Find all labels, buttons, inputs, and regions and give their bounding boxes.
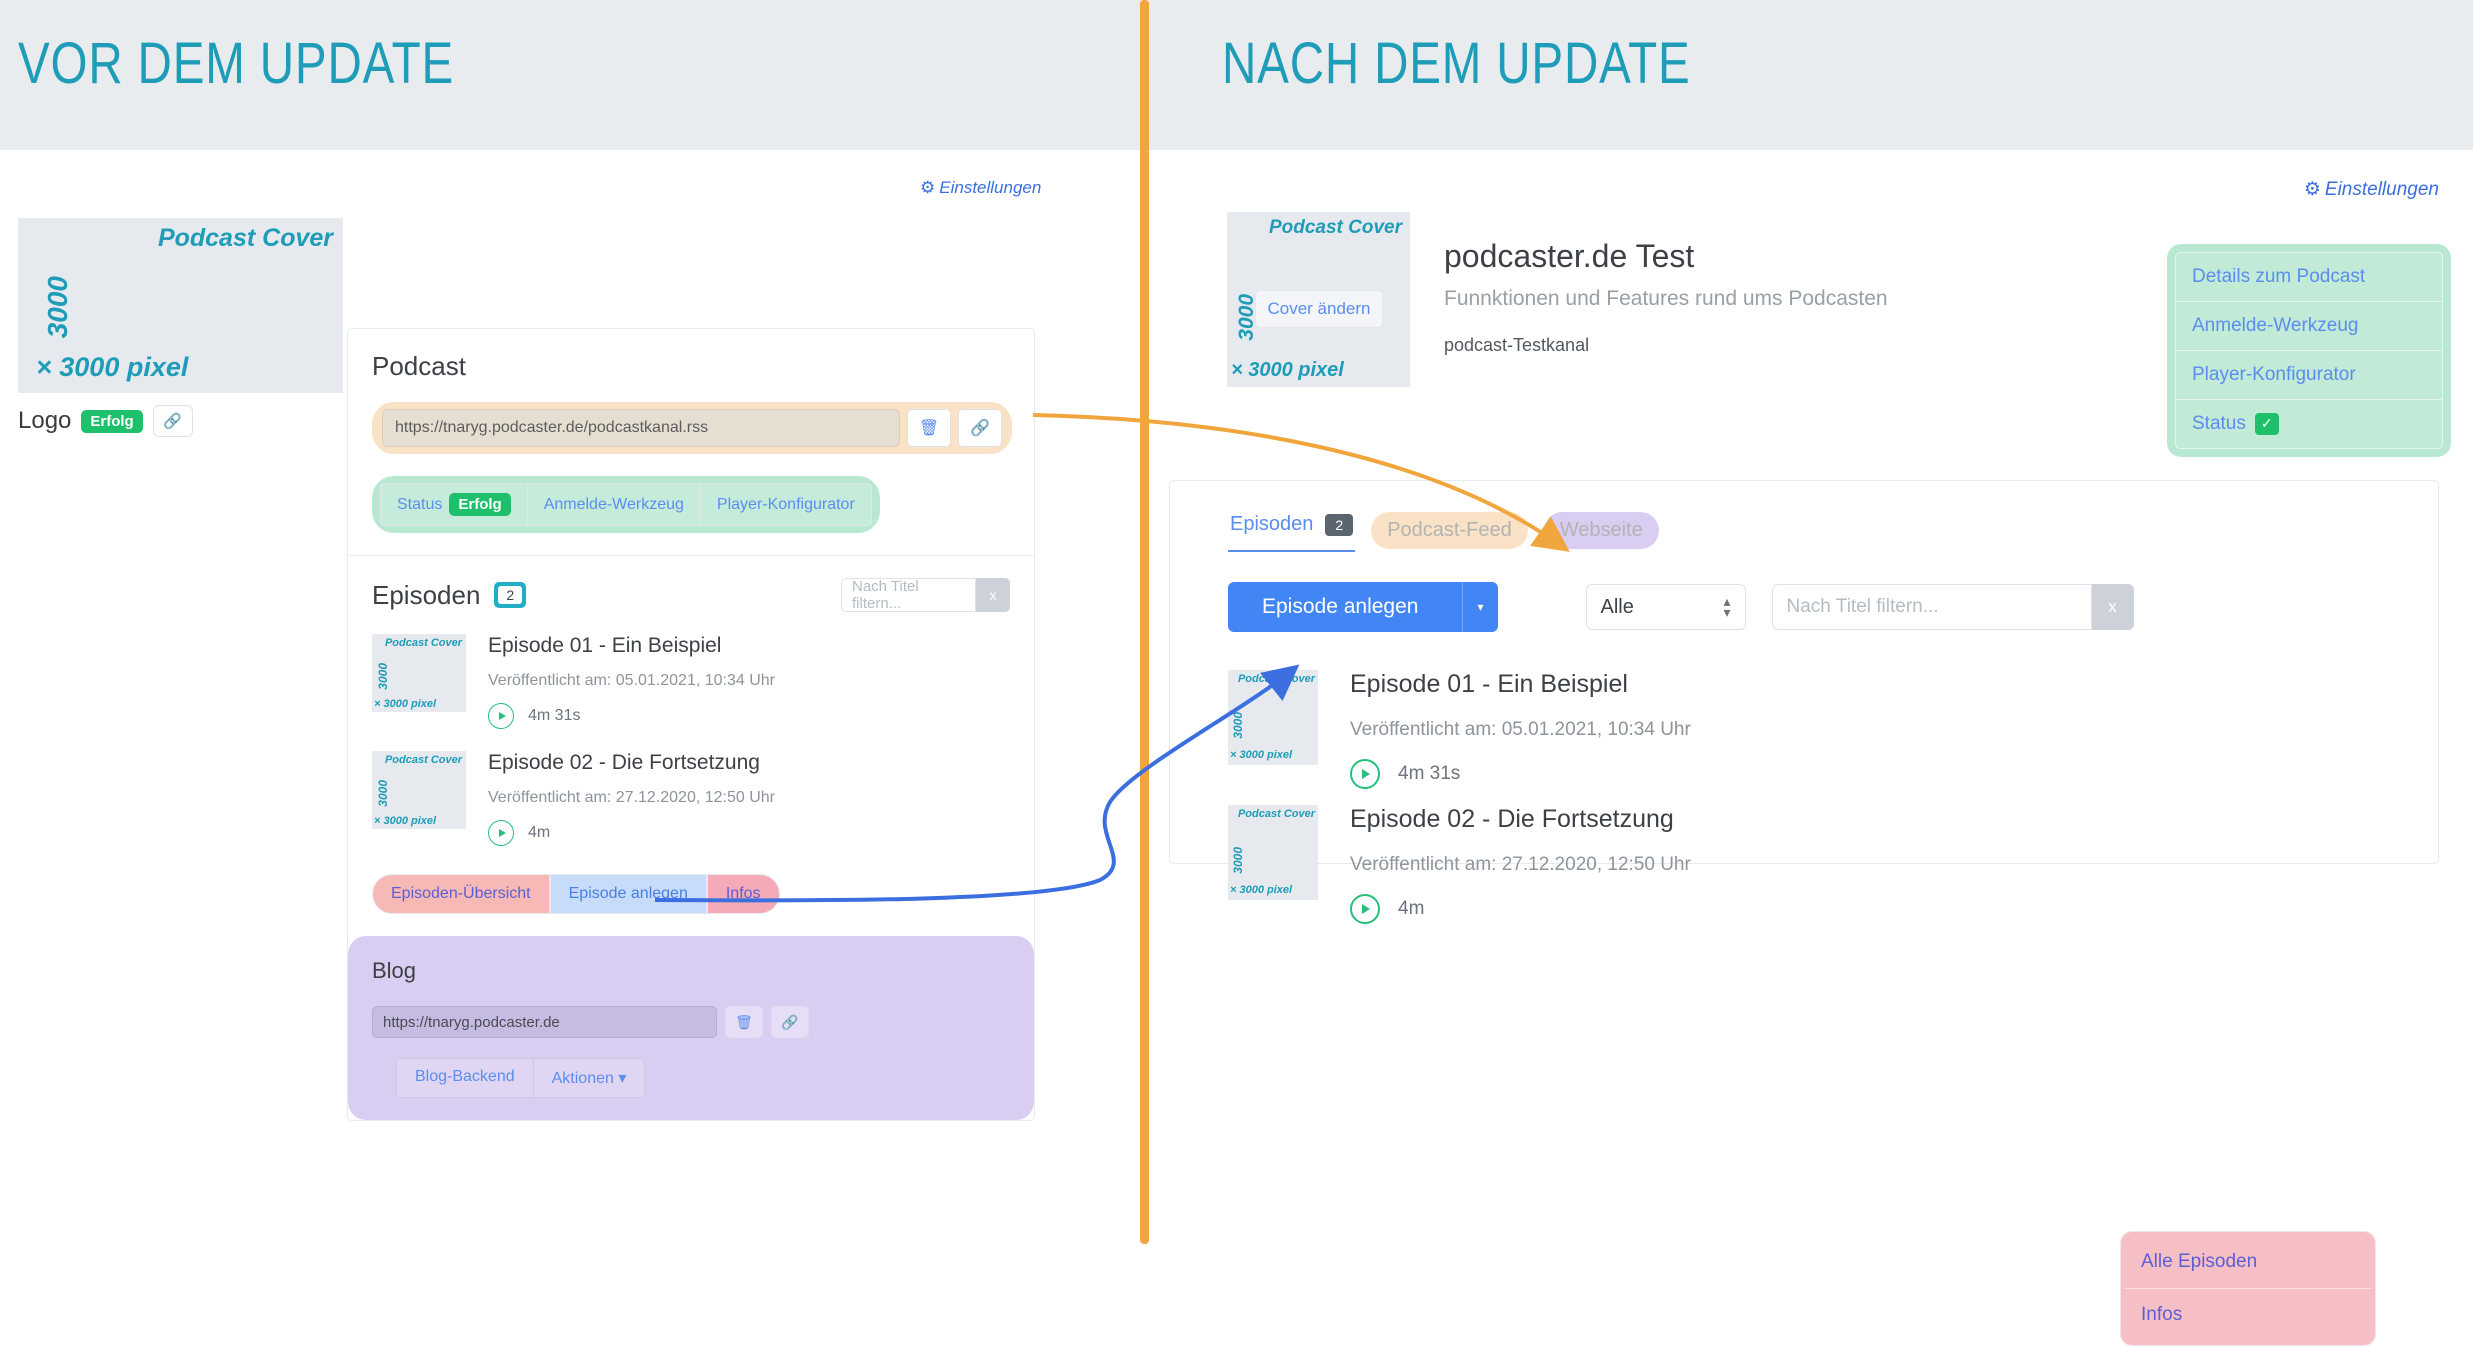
status-check-badge: ✓ [2255, 413, 2279, 435]
logo-row: Logo Erfolg 🔗 [18, 405, 193, 437]
link-icon[interactable]: 🔗 [771, 1006, 809, 1038]
podcast-section: Podcast https://tnaryg.podcaster.de/podc… [348, 329, 1034, 556]
play-icon[interactable] [1350, 759, 1380, 789]
cover-size-vertical: 3000 [376, 663, 390, 690]
cover-top-label: Podcast Cover [1269, 217, 1402, 239]
episode-cover-placeholder: Podcast Cover 3000 × 3000 pixel [372, 751, 466, 829]
blog-heading: Blog [372, 958, 1010, 984]
cover-change-button[interactable]: Cover ändern [1255, 290, 1383, 328]
tab-bar: Episoden 2 Podcast-Feed Webseite [1170, 481, 2438, 552]
episode-info: Episode 02 - Die Fortsetzung Veröffentli… [488, 751, 775, 846]
link-icon[interactable]: 🔗 [958, 409, 1002, 447]
episode-filter-clear-button[interactable]: x [2092, 584, 2134, 630]
tab-webseite[interactable]: Webseite [1544, 512, 1659, 549]
podcast-header: podcaster.de Test Funnktionen und Featur… [1444, 238, 1888, 356]
anmelde-werkzeug-button[interactable]: Anmelde-Werkzeug [527, 483, 700, 526]
logo-status-badge: Erfolg [81, 410, 142, 433]
blog-aktionen-button[interactable]: Aktionen ▾ [534, 1058, 646, 1098]
tab-count-badge: 2 [1325, 514, 1353, 536]
episodes-count: 2 [498, 586, 522, 604]
blog-actions-group: Blog-Backend Aktionen ▾ [396, 1058, 1010, 1098]
episoden-uebersicht-button[interactable]: Episoden-Übersicht [372, 874, 550, 914]
episode-filter: Nach Titel filtern... x [841, 578, 1010, 612]
tab-episoden[interactable]: Episoden 2 [1228, 509, 1355, 552]
table-row[interactable]: Podcast Cover 3000 × 3000 pixel Episode … [1228, 670, 2438, 789]
heading-before: VOR DEM UPDATE [18, 30, 454, 97]
episode-filter-clear-button[interactable]: x [976, 578, 1010, 612]
cover-size-bottom: × 3000 pixel [1230, 884, 1292, 896]
list-item[interactable]: Podcast Cover 3000 × 3000 pixel Episode … [372, 634, 1010, 729]
episodes-count-badge: 2 [494, 582, 526, 608]
sidebar-item-status[interactable]: Status ✓ [2175, 399, 2443, 449]
chevron-updown-icon: ▴▾ [1723, 596, 1730, 618]
chevron-down-icon[interactable]: ▾ [1463, 600, 1497, 614]
sidebar-item-anmelde-werkzeug[interactable]: Anmelde-Werkzeug [2175, 301, 2443, 350]
before-update-panel: ⚙Einstellungen Podcast Cover 3000 × 3000… [0, 150, 1140, 1244]
podcast-subtitle: Funnktionen und Features rund ums Podcas… [1444, 287, 1888, 311]
settings-link-before[interactable]: ⚙Einstellungen [920, 178, 1041, 198]
play-icon[interactable] [488, 703, 514, 729]
episode-duration: 4m [1398, 898, 1424, 920]
table-row[interactable]: Podcast Cover 3000 × 3000 pixel Episode … [1228, 805, 2438, 924]
status-label: Status [397, 496, 442, 514]
sidebar-item-player-konfigurator[interactable]: Player-Konfigurator [2175, 350, 2443, 399]
trash-icon[interactable]: 🗑 [907, 409, 951, 447]
episode-date: Veröffentlicht am: 27.12.2020, 12:50 Uhr [1350, 854, 1691, 876]
create-episode-button[interactable]: Episode anlegen ▾ [1228, 582, 1498, 632]
episodes-card: Episoden 2 Podcast-Feed Webseite Episode… [1169, 480, 2439, 864]
status-badge: Erfolg [449, 493, 510, 516]
episode-actions-group: Episoden-Übersicht Episode anlegen Infos [372, 874, 1010, 914]
after-update-panel: ⚙Einstellungen Podcast Cover 3000 × 3000… [1149, 150, 2473, 1244]
cover-size-bottom: × 3000 pixel [374, 698, 436, 710]
episode-cover-placeholder: Podcast Cover 3000 × 3000 pixel [1228, 670, 1318, 765]
feed-url-row: https://tnaryg.podcaster.de/podcastkanal… [372, 402, 1012, 454]
cover-size-bottom: × 3000 pixel [1230, 749, 1292, 761]
episode-filter-select[interactable]: Alle ▴▾ [1586, 584, 1746, 630]
episode-duration-row: 4m [1350, 894, 1691, 924]
podcast-heading: Podcast [372, 351, 1010, 382]
episode-cover-placeholder: Podcast Cover 3000 × 3000 pixel [1228, 805, 1318, 900]
episode-duration-row: 4m [488, 820, 775, 846]
podcast-channel: podcast-Testkanal [1444, 335, 1888, 356]
episode-duration-row: 4m 31s [488, 703, 775, 729]
sidebar-item-infos[interactable]: Infos [2125, 1289, 2371, 1341]
blog-backend-button[interactable]: Blog-Backend [396, 1058, 534, 1098]
infos-button[interactable]: Infos [707, 874, 780, 914]
create-episode-label: Episode anlegen [1228, 595, 1462, 619]
select-value: Alle [1601, 596, 1634, 619]
play-icon[interactable] [488, 820, 514, 846]
cover-top-label: Podcast Cover [1238, 673, 1315, 685]
episode-date: Veröffentlicht am: 05.01.2021, 10:34 Uhr [1350, 719, 1691, 741]
podcast-cover-placeholder: Podcast Cover 3000 × 3000 pixel [18, 218, 343, 393]
episode-actions-row: Episode anlegen ▾ Alle ▴▾ Nach Titel fil… [1170, 552, 2438, 632]
player-konfigurator-button[interactable]: Player-Konfigurator [700, 483, 872, 526]
tab-podcast-feed[interactable]: Podcast-Feed [1371, 512, 1528, 549]
episodes-title-group: Episoden 2 [372, 580, 526, 611]
cover-size-bottom: × 3000 pixel [1231, 359, 1344, 382]
play-icon[interactable] [1350, 894, 1380, 924]
episode-cover-placeholder: Podcast Cover 3000 × 3000 pixel [372, 634, 466, 712]
podcast-actions-group: Status Erfolg Anmelde-Werkzeug Player-Ko… [372, 476, 880, 533]
episodes-header: Episoden 2 Nach Titel filtern... x [372, 578, 1010, 612]
episode-title-filter: Nach Titel filtern... x [1772, 584, 2134, 630]
settings-label: Einstellungen [939, 178, 1041, 197]
settings-label: Einstellungen [2325, 179, 2439, 200]
tab-label: Episoden [1230, 513, 1313, 536]
cover-size-bottom: × 3000 pixel [36, 352, 188, 383]
episode-filter-input[interactable]: Nach Titel filtern... [1772, 584, 2092, 630]
episode-side-panel: Alle Episoden Infos [2120, 1231, 2376, 1346]
episodes-heading: Episoden [372, 580, 480, 611]
episode-date: Veröffentlicht am: 05.01.2021, 10:34 Uhr [488, 672, 775, 690]
episode-filter-input[interactable]: Nach Titel filtern... [841, 578, 976, 612]
episode-duration-row: 4m 31s [1350, 759, 1691, 789]
trash-icon[interactable]: 🗑 [725, 1006, 763, 1038]
blog-url-input[interactable]: https://tnaryg.podcaster.de [372, 1006, 717, 1038]
status-button[interactable]: Status Erfolg [380, 483, 527, 526]
episode-title[interactable]: Episode 01 - Ein Beispiel [488, 634, 775, 658]
cover-top-label: Podcast Cover [158, 224, 333, 253]
episode-info: Episode 01 - Ein Beispiel Veröffentlicht… [488, 634, 775, 729]
episode-info: Episode 01 - Ein Beispiel Veröffentlicht… [1350, 670, 1691, 789]
episode-duration: 4m 31s [1398, 763, 1460, 785]
cover-size-vertical: 3000 [1231, 712, 1245, 739]
episode-duration: 4m 31s [528, 707, 580, 725]
logo-label: Logo [18, 407, 71, 435]
sidebar-item-details[interactable]: Details zum Podcast [2175, 252, 2443, 301]
podcast-card: Podcast https://tnaryg.podcaster.de/podc… [347, 328, 1035, 1121]
cover-size-vertical: 3000 [42, 276, 74, 338]
gear-icon: ⚙ [920, 178, 935, 197]
podcast-side-menu: Details zum Podcast Anmelde-Werkzeug Pla… [2167, 244, 2451, 457]
episode-title[interactable]: Episode 02 - Die Fortsetzung [1350, 805, 1691, 834]
cover-top-label: Podcast Cover [385, 637, 462, 649]
cover-size-vertical: 3000 [376, 780, 390, 807]
blog-url-row: https://tnaryg.podcaster.de 🗑 🔗 [372, 1006, 1010, 1038]
podcast-cover-placeholder: Podcast Cover 3000 × 3000 pixel Cover än… [1227, 212, 1410, 387]
settings-link-after[interactable]: ⚙Einstellungen [2304, 178, 2439, 201]
heading-after: NACH DEM UPDATE [1222, 30, 1691, 97]
vertical-divider [1140, 0, 1149, 1244]
episode-list: Podcast Cover 3000 × 3000 pixel Episode … [1170, 632, 2438, 924]
blog-section: Blog https://tnaryg.podcaster.de 🗑 🔗 Blo… [348, 936, 1034, 1120]
gear-icon: ⚙ [2304, 179, 2321, 200]
episodes-section: Episoden 2 Nach Titel filtern... x Podca… [348, 556, 1034, 936]
link-icon[interactable]: 🔗 [153, 405, 193, 437]
cover-size-vertical: 3000 [1231, 847, 1245, 874]
cover-top-label: Podcast Cover [385, 754, 462, 766]
episode-duration: 4m [528, 824, 550, 842]
episode-title[interactable]: Episode 02 - Die Fortsetzung [488, 751, 775, 775]
episode-info: Episode 02 - Die Fortsetzung Veröffentli… [1350, 805, 1691, 924]
feed-url-input[interactable]: https://tnaryg.podcaster.de/podcastkanal… [382, 409, 900, 447]
cover-top-label: Podcast Cover [1238, 808, 1315, 820]
sidebar-item-label: Status [2192, 413, 2246, 435]
page-title: podcaster.de Test [1444, 238, 1888, 275]
episode-date: Veröffentlicht am: 27.12.2020, 12:50 Uhr [488, 789, 775, 807]
episode-anlegen-button[interactable]: Episode anlegen [550, 874, 707, 914]
episode-title[interactable]: Episode 01 - Ein Beispiel [1350, 670, 1691, 699]
cover-size-bottom: × 3000 pixel [374, 815, 436, 827]
list-item[interactable]: Podcast Cover 3000 × 3000 pixel Episode … [372, 751, 1010, 846]
